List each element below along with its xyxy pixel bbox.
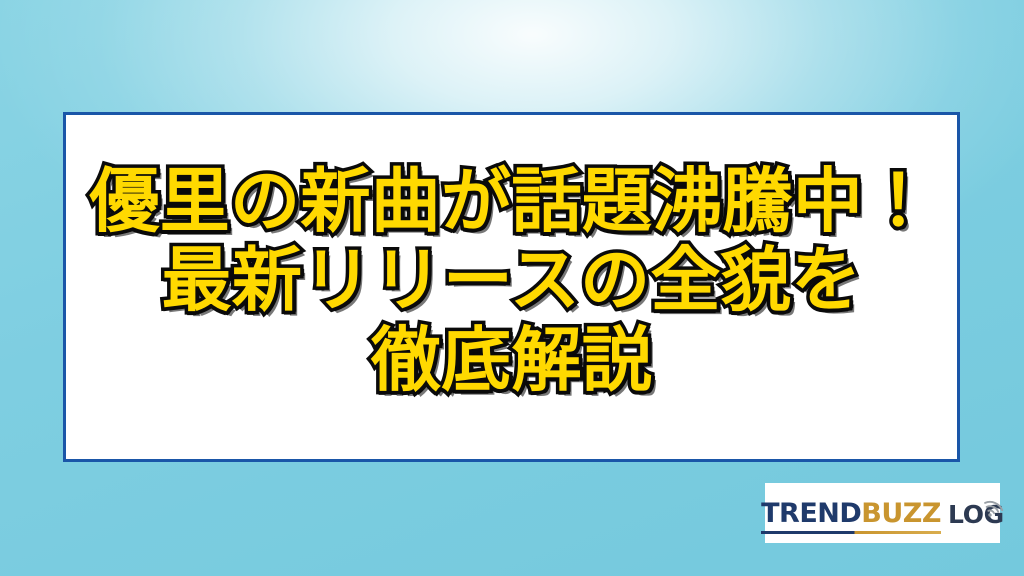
- logo-wordmark: TREND BUZZ: [761, 500, 941, 527]
- logo-trend-text: TREND: [761, 500, 861, 527]
- logo-buzz-text: BUZZ: [861, 500, 941, 527]
- title-line-3: 徹底解説: [84, 323, 939, 399]
- title-line-1: 優里の新曲が話題沸騰中！: [84, 164, 939, 240]
- logo-inner: TREND BUZZ LOG: [751, 500, 1014, 527]
- brand-logo-badge: TREND BUZZ LOG: [765, 483, 1000, 543]
- title-line-2: 最新リリースの全貌を: [84, 243, 939, 319]
- thumbnail-canvas: 優里の新曲が話題沸騰中！ 最新リリースの全貌を 徹底解説 TREND BUZZ …: [0, 0, 1024, 576]
- logo-underline-bar: [761, 531, 941, 534]
- title-card: 優里の新曲が話題沸騰中！ 最新リリースの全貌を 徹底解説: [63, 112, 960, 462]
- wifi-signal-icon: [984, 494, 1010, 518]
- title-block: 優里の新曲が話題沸騰中！ 最新リリースの全貌を 徹底解説: [66, 164, 957, 399]
